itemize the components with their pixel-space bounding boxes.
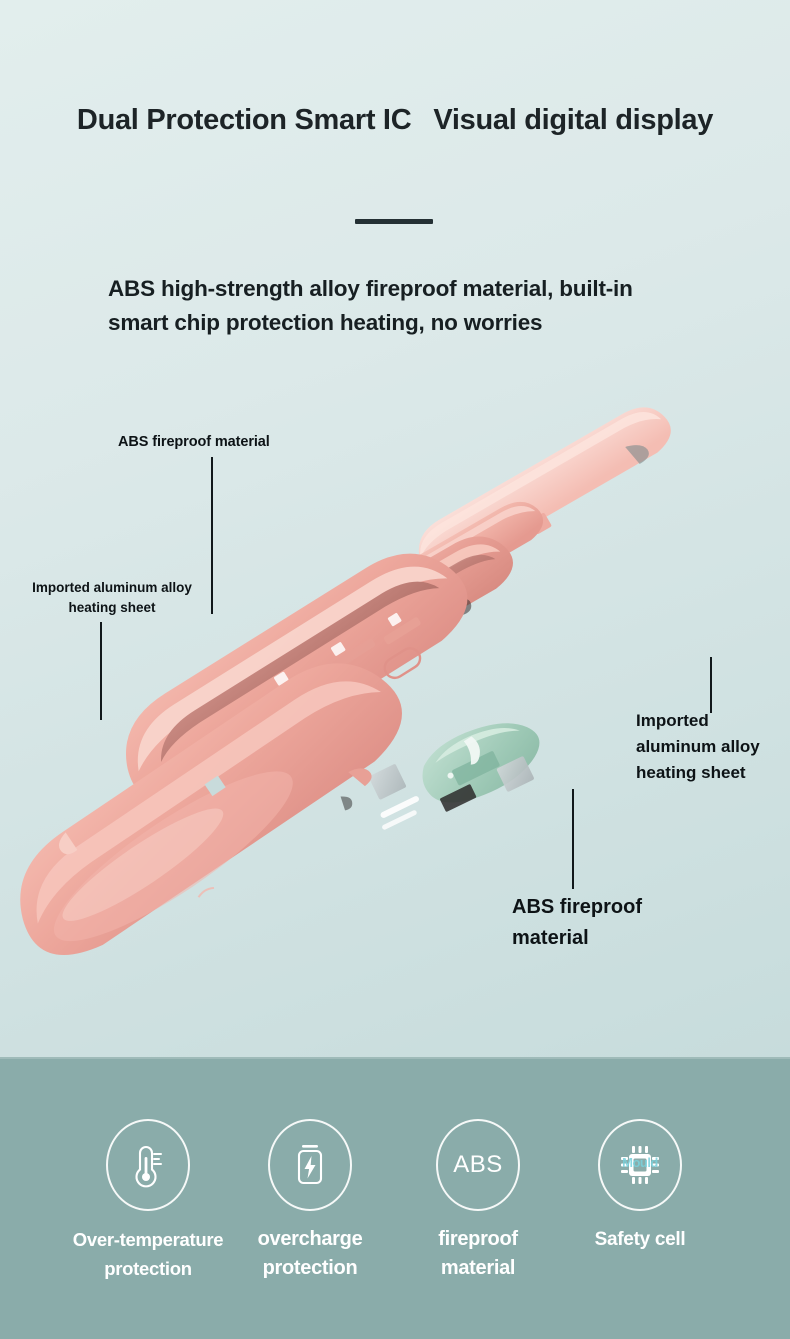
feature-label-2-line-2: material <box>390 1254 566 1283</box>
annotation-abs-fireproof-top: ABS fireproof material <box>118 434 270 450</box>
annotation-abs-bottom-line-2: material <box>512 923 702 954</box>
infographic-page: Dual Protection Smart ICVisual digital d… <box>0 0 790 1339</box>
battery-charge-icon <box>291 1141 329 1189</box>
feature-item-over-temperature: Over-temperature protection <box>60 1119 236 1283</box>
annotation-aluminum-left: Imported aluminum alloy heating sheet <box>14 578 210 618</box>
feature-label-1: overcharge protection <box>222 1225 398 1283</box>
annotation-abs-bottom-line-1: ABS fireproof <box>512 892 702 923</box>
feature-list: Over-temperature protection overcharge p… <box>0 1119 790 1329</box>
chip-icon-wrap: Mould <box>617 1142 663 1188</box>
leader-line-abs-top <box>211 457 213 614</box>
chip-icon <box>617 1142 663 1188</box>
annotation-aluminum-right-line-1: Imported <box>636 708 788 734</box>
feature-label-0: Over-temperature protection <box>60 1225 236 1283</box>
feature-label-3: Safety cell <box>552 1225 728 1254</box>
top-panel: Dual Protection Smart ICVisual digital d… <box>0 0 790 1057</box>
feature-item-fireproof: ABS fireproof material <box>390 1119 566 1283</box>
feature-icon-circle-0 <box>106 1119 190 1211</box>
annotation-aluminum-left-line-1: Imported aluminum alloy <box>14 578 210 598</box>
annotation-abs-fireproof-bottom: ABS fireproof material <box>512 892 702 954</box>
headline-part2: Visual digital display <box>433 104 713 136</box>
thermometer-icon <box>128 1141 168 1189</box>
band-top-edge <box>0 1057 790 1059</box>
headline-part1: Dual Protection Smart IC <box>77 104 411 136</box>
feature-icon-circle-1 <box>268 1119 352 1211</box>
feature-icon-circle-3: Mould <box>598 1119 682 1211</box>
feature-label-3-line-1: Safety cell <box>552 1225 728 1254</box>
part-connectors <box>359 761 424 831</box>
feature-label-0-line-1: Over-temperature <box>60 1225 236 1254</box>
subtitle-line-1: ABS high-strength alloy fireproof materi… <box>108 272 748 306</box>
part-heating-module <box>411 705 554 824</box>
feature-item-safety-cell: Mould Safety cell <box>552 1119 728 1254</box>
annotation-aluminum-left-line-2: heating sheet <box>14 598 210 618</box>
leader-line-aluminum-left <box>100 622 102 720</box>
title-divider <box>355 219 433 224</box>
leader-line-aluminum-right <box>710 657 712 713</box>
annotation-aluminum-right: Imported aluminum alloy heating sheet <box>636 708 788 786</box>
feature-label-1-line-2: protection <box>222 1254 398 1283</box>
feature-item-overcharge: overcharge protection <box>222 1119 398 1283</box>
feature-label-2: fireproof material <box>390 1225 566 1283</box>
abs-text-icon: ABS <box>453 1151 503 1179</box>
feature-icon-circle-2: ABS <box>436 1119 520 1211</box>
annotation-aluminum-right-line-3: heating sheet <box>636 760 788 786</box>
feature-label-1-line-1: overcharge <box>222 1225 398 1254</box>
feature-label-2-line-1: fireproof <box>390 1225 566 1254</box>
page-title: Dual Protection Smart ICVisual digital d… <box>0 104 790 137</box>
annotation-aluminum-right-line-2: aluminum alloy <box>636 734 788 760</box>
feature-label-0-line-2: protection <box>60 1254 236 1283</box>
feature-band: Over-temperature protection overcharge p… <box>0 1057 790 1339</box>
leader-line-abs-bottom <box>572 789 574 889</box>
